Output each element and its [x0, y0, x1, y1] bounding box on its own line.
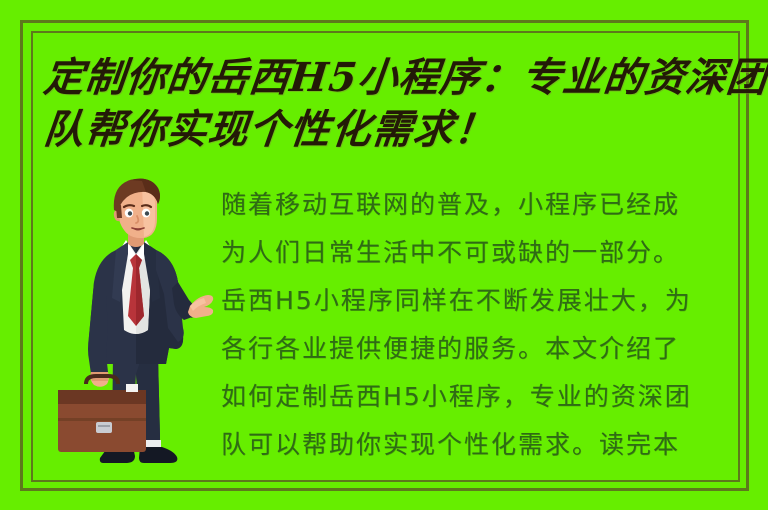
body-line-5: 如何定制岳西H5小程序，专业的资深团	[221, 373, 731, 421]
headline-line-2: 队帮你实现个性化需求！	[41, 104, 736, 156]
body-line-2: 为人们日常生活中不可或缺的一部分。	[221, 229, 731, 277]
body-copy: 随着移动互联网的普及，小程序已经成 为人们日常生活中不可或缺的一部分。 岳西H5…	[221, 181, 731, 469]
businessman-illustration	[56, 178, 216, 470]
body-line-1: 随着移动互联网的普及，小程序已经成	[221, 181, 731, 229]
headline-line-1: 定制你的岳西H5小程序：专业的资深团	[41, 52, 736, 104]
headline: 定制你的岳西H5小程序：专业的资深团 队帮你实现个性化需求！	[44, 52, 734, 156]
body-line-4: 各行各业提供便捷的服务。本文介绍了	[221, 325, 731, 373]
poster-canvas: 定制你的岳西H5小程序：专业的资深团 队帮你实现个性化需求！ 随着移动互联网的普…	[0, 0, 768, 510]
body-line-3: 岳西H5小程序同样在不断发展壮大，为	[221, 277, 731, 325]
body-line-6: 队可以帮助你实现个性化需求。读完本	[221, 421, 731, 469]
